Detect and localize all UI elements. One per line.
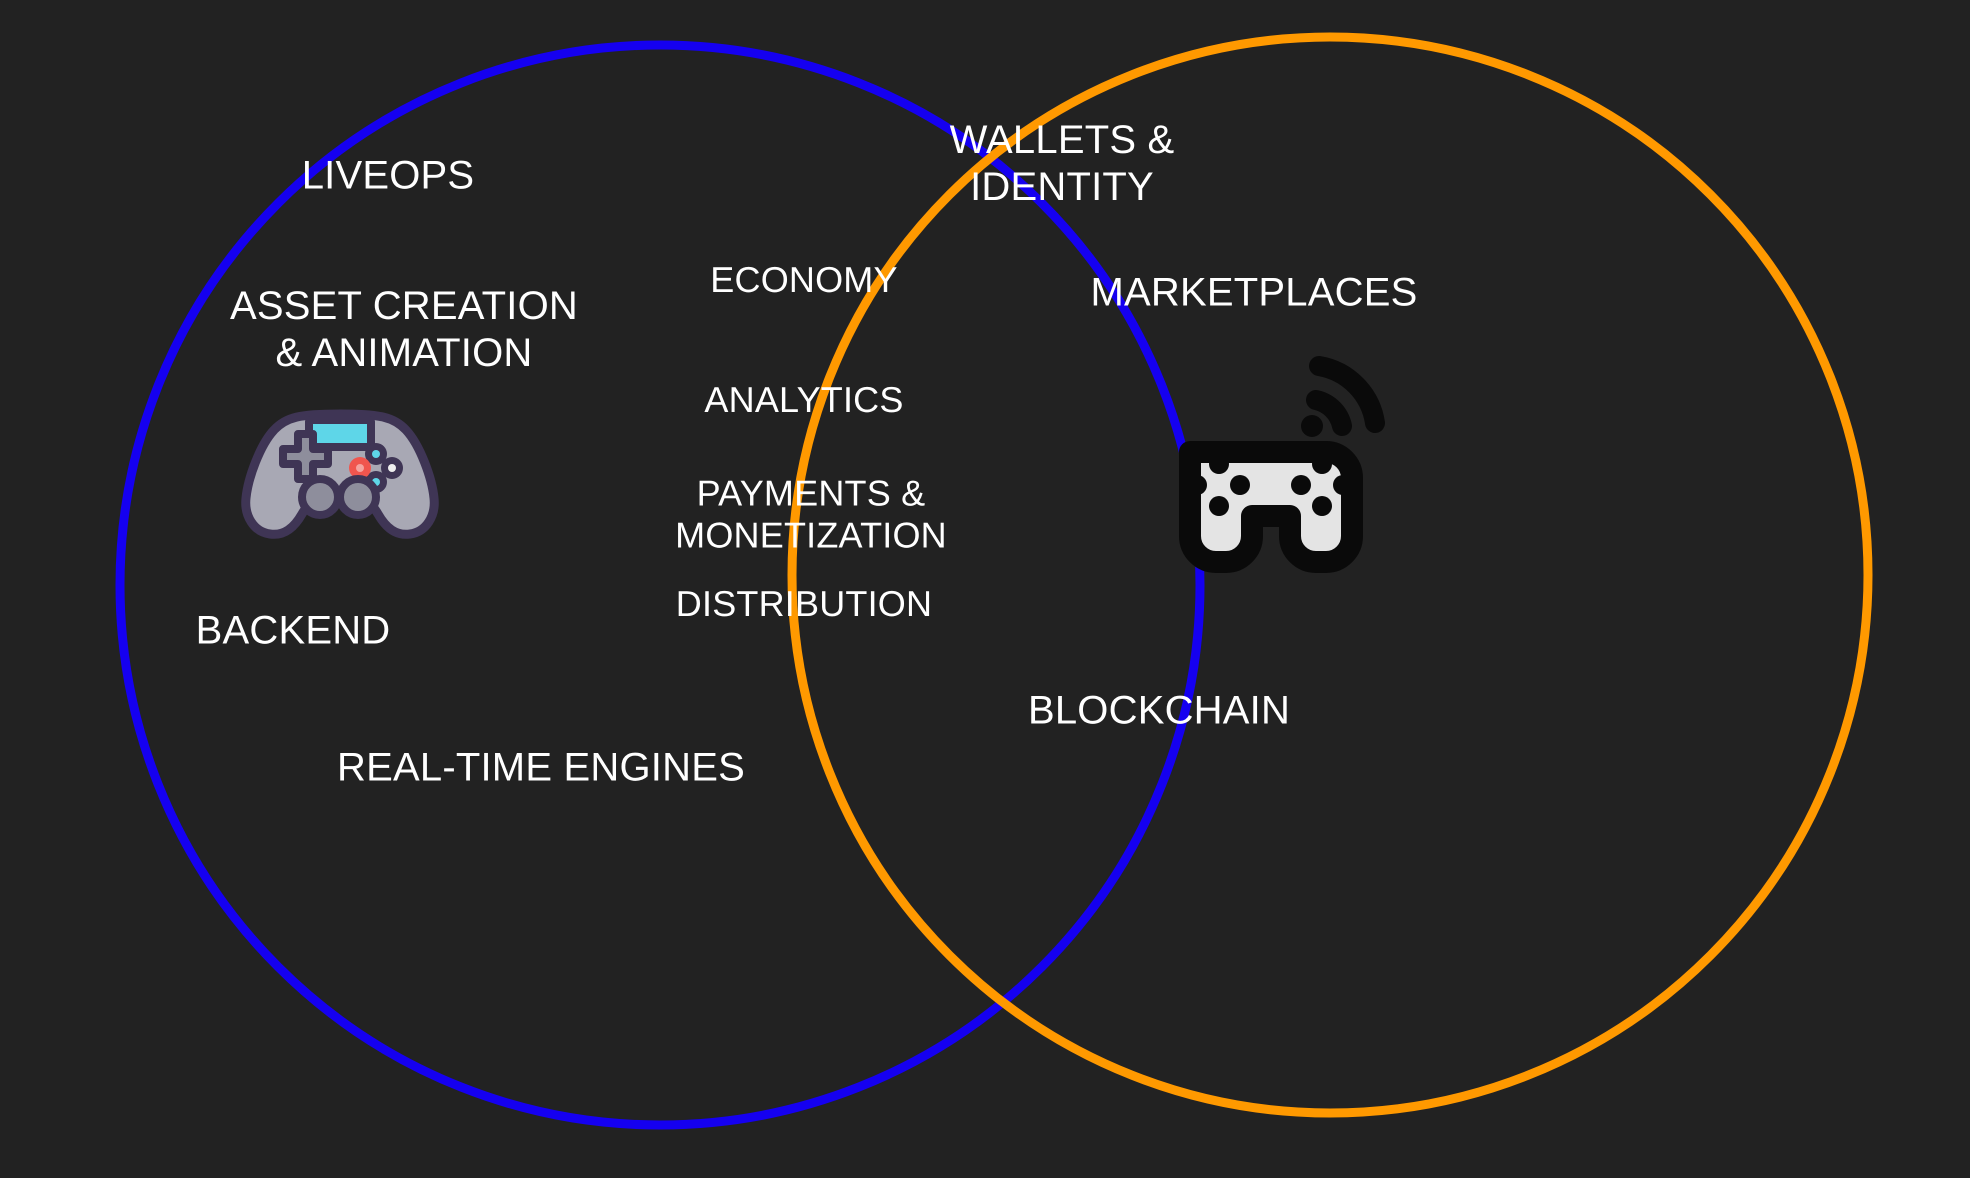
label-payments-monetization: PAYMENTS & MONETIZATION xyxy=(675,473,947,558)
wifi-signal-icon xyxy=(1301,366,1375,437)
label-analytics: ANALYTICS xyxy=(704,379,903,421)
gamepad-wireless-icon xyxy=(1156,340,1404,588)
label-liveops: LIVEOPS xyxy=(302,152,475,199)
gamepad-classic-icon xyxy=(240,404,440,550)
venn-diagram-canvas: LIVEOPS ASSET CREATION & ANIMATION BACKE… xyxy=(0,0,1970,1178)
label-blockchain: BLOCKCHAIN xyxy=(1028,687,1290,734)
label-backend: BACKEND xyxy=(196,607,391,654)
label-asset-creation-animation: ASSET CREATION & ANIMATION xyxy=(230,283,578,377)
label-economy: ECONOMY xyxy=(710,259,897,301)
label-marketplaces: MARKETPLACES xyxy=(1091,269,1418,316)
label-real-time-engines: REAL-TIME ENGINES xyxy=(337,744,745,791)
label-wallets-identity: WALLETS & IDENTITY xyxy=(950,117,1175,211)
label-distribution: DISTRIBUTION xyxy=(676,583,932,625)
